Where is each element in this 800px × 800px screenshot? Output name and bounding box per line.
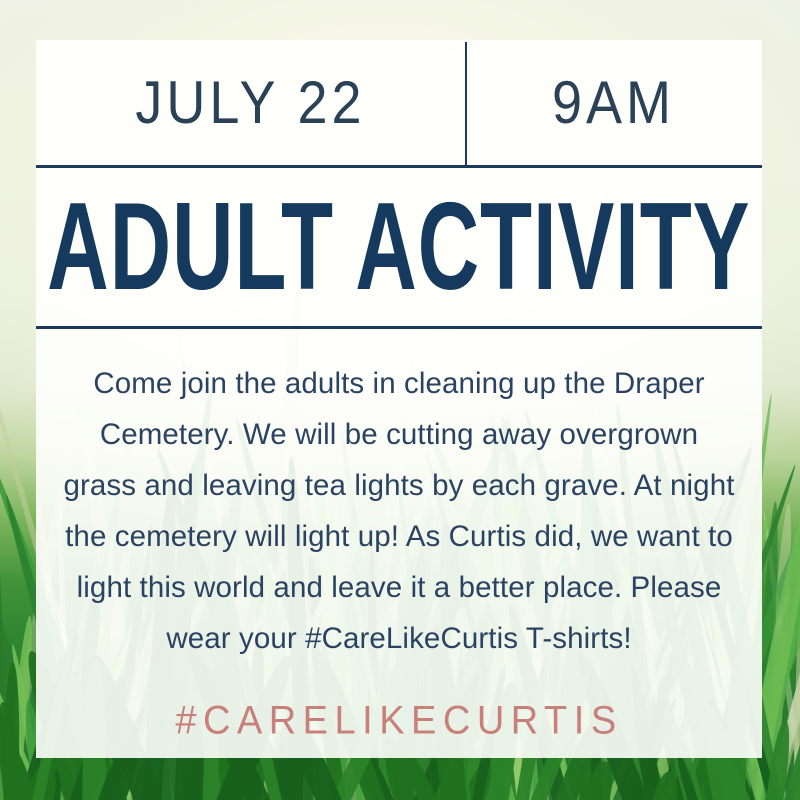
event-time: 9AM	[552, 73, 675, 133]
event-title: ADULT ACTIVITY	[47, 185, 750, 310]
divider-below-title	[36, 326, 762, 329]
content-card: JULY 22 9AM ADULT ACTIVITY Come join the…	[36, 40, 762, 758]
title-area: ADULT ACTIVITY	[36, 168, 762, 326]
event-flyer: JULY 22 9AM ADULT ACTIVITY Come join the…	[0, 0, 800, 800]
campaign-hashtag: #CARELIKECURTIS	[36, 701, 762, 741]
event-time-cell: 9AM	[465, 40, 762, 166]
meta-vertical-divider	[465, 42, 467, 166]
event-description: Come join the adults in cleaning up the …	[62, 358, 736, 664]
event-date-cell: JULY 22	[36, 40, 465, 166]
event-meta-row: JULY 22 9AM	[36, 40, 762, 166]
event-date: JULY 22	[135, 73, 365, 133]
